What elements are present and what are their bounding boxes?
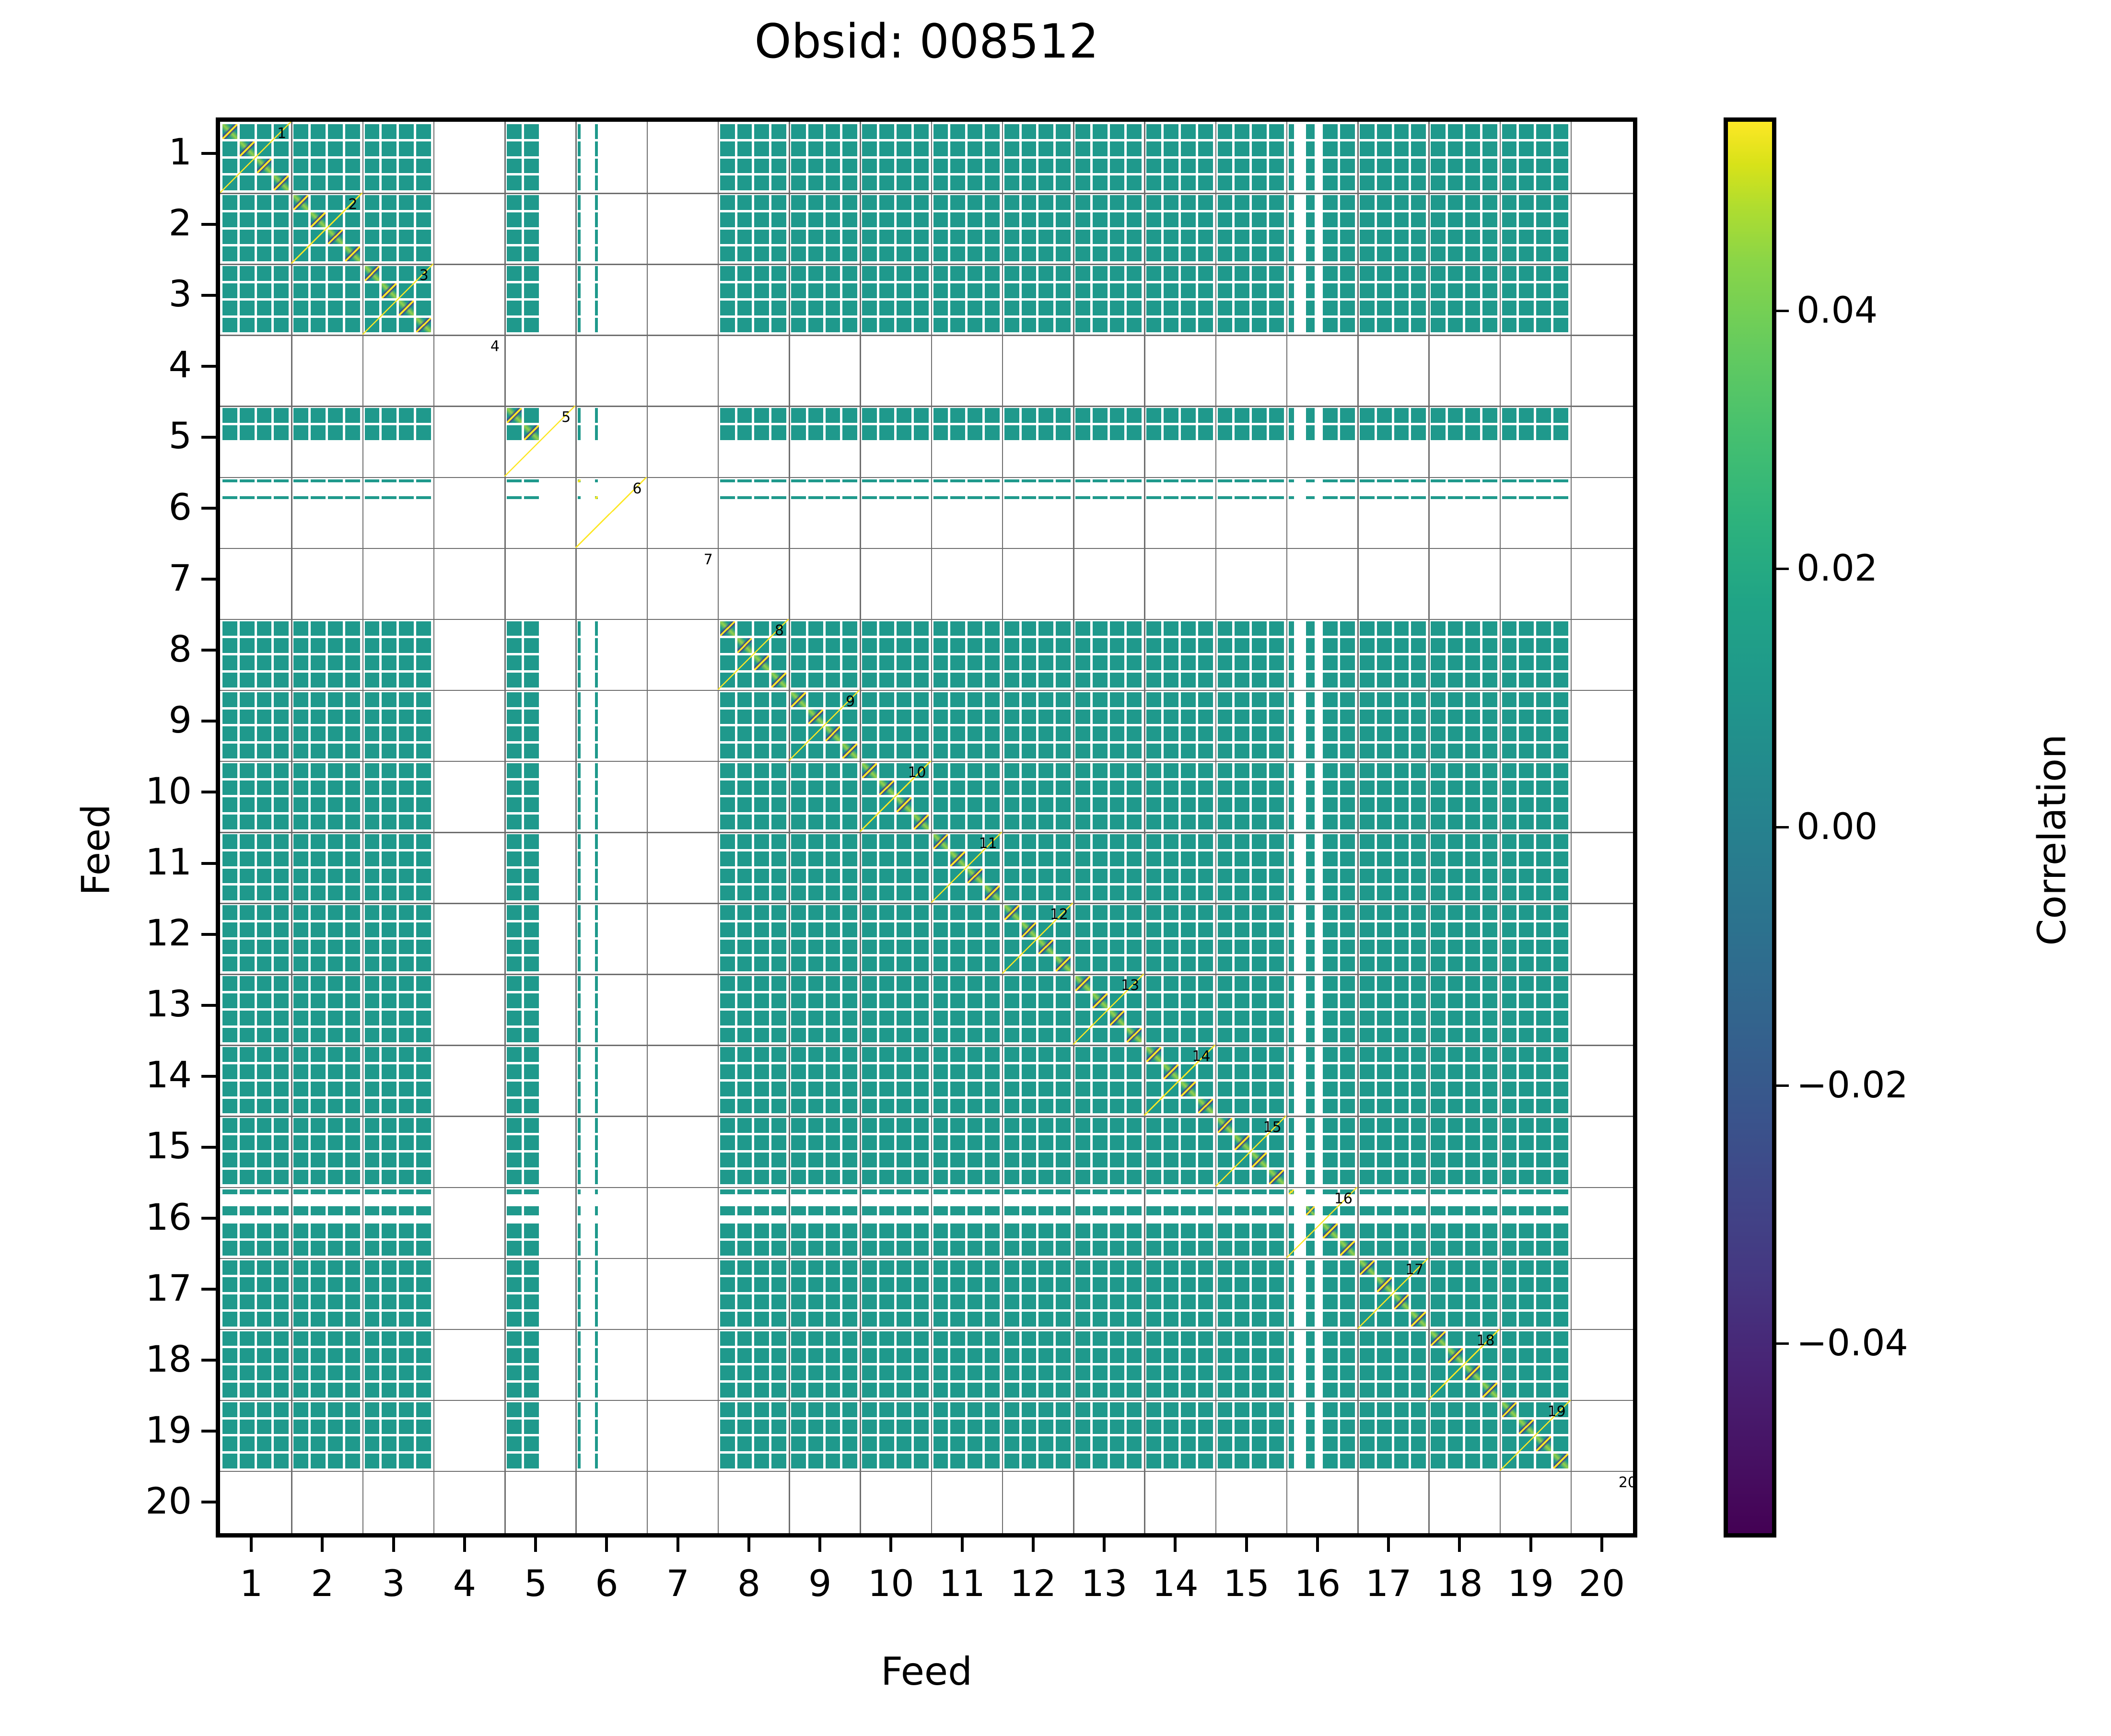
matrix-cell[interactable] [647,122,718,193]
matrix-cell[interactable]: 3 [362,264,433,335]
matrix-cell[interactable] [1428,690,1499,761]
matrix-cell[interactable] [1500,761,1571,832]
matrix-cell[interactable] [1286,548,1357,619]
matrix-cell[interactable] [1002,619,1073,690]
matrix-cell[interactable] [362,690,433,761]
matrix-cell[interactable] [291,619,362,690]
matrix-cell[interactable] [1357,1329,1428,1400]
matrix-cell[interactable] [1144,1187,1215,1258]
matrix-cell[interactable] [575,1471,646,1533]
matrix-cell[interactable] [433,619,504,690]
matrix-cell[interactable] [647,477,718,548]
matrix-cell[interactable] [1215,690,1286,761]
matrix-cell[interactable] [575,974,646,1045]
matrix-cell[interactable] [1286,690,1357,761]
matrix-cell[interactable] [647,406,718,477]
matrix-cell[interactable] [1571,1187,1633,1258]
matrix-cell[interactable] [1428,1258,1499,1329]
matrix-cell[interactable] [789,548,860,619]
matrix-cell[interactable]: 13 [1073,974,1144,1045]
matrix-cell[interactable] [1073,193,1144,264]
matrix-cell[interactable] [789,1329,860,1400]
matrix-cell[interactable] [504,193,575,264]
matrix-cell[interactable] [433,1258,504,1329]
matrix-cell[interactable] [860,690,931,761]
matrix-cell[interactable] [931,1471,1002,1533]
matrix-cell[interactable] [789,477,860,548]
heatmap-axes[interactable]: 1234567891011121314151617181920 [216,117,1637,1538]
matrix-cell[interactable] [1215,832,1286,903]
matrix-cell[interactable] [789,264,860,335]
matrix-cell[interactable] [1002,1116,1073,1187]
matrix-cell[interactable]: 1 [220,122,291,193]
matrix-cell[interactable] [1073,1258,1144,1329]
matrix-cell[interactable] [931,1400,1002,1471]
matrix-cell[interactable] [575,548,646,619]
matrix-cell[interactable] [291,1329,362,1400]
matrix-cell[interactable] [1002,122,1073,193]
matrix-cell[interactable] [789,122,860,193]
matrix-cell[interactable] [291,477,362,548]
matrix-cell[interactable] [504,335,575,406]
matrix-cell[interactable] [647,264,718,335]
matrix-cell[interactable] [647,619,718,690]
matrix-cell[interactable] [433,832,504,903]
matrix-cell[interactable] [931,690,1002,761]
matrix-cell[interactable] [931,761,1002,832]
matrix-cell[interactable] [860,1471,931,1533]
matrix-cell[interactable] [1215,406,1286,477]
matrix-cell[interactable] [789,1045,860,1116]
matrix-cell[interactable] [1571,264,1633,335]
matrix-cell[interactable] [362,1258,433,1329]
matrix-cell[interactable] [1215,1400,1286,1471]
matrix-cell[interactable] [362,548,433,619]
matrix-cell[interactable] [1500,548,1571,619]
matrix-cell[interactable] [433,264,504,335]
matrix-cell[interactable] [362,122,433,193]
matrix-cell[interactable] [1500,193,1571,264]
matrix-cell[interactable] [789,1400,860,1471]
matrix-cell[interactable] [718,974,789,1045]
matrix-cell[interactable] [433,974,504,1045]
matrix-cell[interactable] [575,1187,646,1258]
matrix-cell[interactable]: 11 [931,832,1002,903]
matrix-cell[interactable] [1215,1329,1286,1400]
matrix-cell[interactable] [1073,1116,1144,1187]
matrix-cell[interactable] [575,1258,646,1329]
matrix-cell[interactable] [1002,1400,1073,1471]
matrix-cell[interactable]: 2 [291,193,362,264]
matrix-cell[interactable] [1002,832,1073,903]
matrix-cell[interactable] [1144,619,1215,690]
matrix-cell[interactable] [1500,1329,1571,1400]
matrix-cell[interactable] [362,1187,433,1258]
matrix-cell[interactable] [860,832,931,903]
matrix-cell[interactable] [718,761,789,832]
matrix-cell[interactable] [504,903,575,974]
matrix-cell[interactable] [1215,264,1286,335]
matrix-cell[interactable] [362,832,433,903]
matrix-cell[interactable] [504,832,575,903]
matrix-cell[interactable] [291,832,362,903]
matrix-cell[interactable] [1357,761,1428,832]
matrix-cell[interactable] [1215,761,1286,832]
matrix-cell[interactable] [931,1258,1002,1329]
matrix-cell[interactable] [1571,477,1633,548]
matrix-cell[interactable] [220,903,291,974]
matrix-cell[interactable] [1144,335,1215,406]
matrix-cell[interactable] [1215,193,1286,264]
matrix-cell[interactable]: 15 [1215,1116,1286,1187]
matrix-cell[interactable] [931,406,1002,477]
matrix-cell[interactable] [860,193,931,264]
matrix-cell[interactable] [647,903,718,974]
matrix-cell[interactable] [647,335,718,406]
matrix-cell[interactable] [860,903,931,974]
matrix-cell[interactable] [433,406,504,477]
matrix-cell[interactable] [1357,1187,1428,1258]
matrix-cell[interactable] [1571,690,1633,761]
matrix-cell[interactable] [1073,1045,1144,1116]
matrix-cell[interactable] [1500,1471,1571,1533]
matrix-cell[interactable] [575,1400,646,1471]
matrix-cell[interactable] [1215,974,1286,1045]
matrix-cell[interactable] [1215,1187,1286,1258]
matrix-cell[interactable] [291,335,362,406]
matrix-cell[interactable] [718,1400,789,1471]
matrix-cell[interactable] [1215,1471,1286,1533]
matrix-cell[interactable] [220,1045,291,1116]
matrix-cell[interactable] [433,1116,504,1187]
matrix-cell[interactable] [291,1471,362,1533]
matrix-cell[interactable] [504,690,575,761]
matrix-cell[interactable] [1073,832,1144,903]
matrix-cell[interactable] [931,974,1002,1045]
matrix-cell[interactable] [220,548,291,619]
matrix-cell[interactable] [1073,619,1144,690]
matrix-cell[interactable] [362,193,433,264]
matrix-cell[interactable] [433,1329,504,1400]
matrix-cell[interactable] [291,264,362,335]
matrix-cell[interactable] [718,477,789,548]
matrix-cell[interactable] [1571,1116,1633,1187]
matrix-cell[interactable] [1073,264,1144,335]
matrix-cell[interactable] [433,548,504,619]
matrix-cell[interactable] [575,1045,646,1116]
matrix-cell[interactable] [433,690,504,761]
matrix-cell[interactable] [1073,1471,1144,1533]
matrix-cell[interactable] [504,1187,575,1258]
matrix-cell[interactable] [1215,619,1286,690]
matrix-cell[interactable] [291,690,362,761]
matrix-cell[interactable] [291,974,362,1045]
matrix-cell[interactable] [1073,335,1144,406]
matrix-cell[interactable] [220,1329,291,1400]
matrix-cell[interactable] [1144,1400,1215,1471]
matrix-cell[interactable] [718,1187,789,1258]
matrix-cell[interactable] [931,1187,1002,1258]
matrix-cell[interactable] [1500,264,1571,335]
matrix-cell[interactable] [718,335,789,406]
matrix-cell[interactable] [433,1187,504,1258]
matrix-cell[interactable] [1428,619,1499,690]
matrix-cell[interactable] [1144,1258,1215,1329]
matrix-cell[interactable] [220,406,291,477]
matrix-cell[interactable] [1428,1471,1499,1533]
matrix-cell[interactable] [362,974,433,1045]
matrix-cell[interactable] [1286,1258,1357,1329]
matrix-cell[interactable] [1357,264,1428,335]
matrix-cell[interactable] [1144,193,1215,264]
matrix-cell[interactable] [291,1045,362,1116]
matrix-cell[interactable] [1286,761,1357,832]
matrix-cell[interactable] [220,832,291,903]
matrix-cell[interactable] [1571,1045,1633,1116]
matrix-cell[interactable] [575,335,646,406]
matrix-cell[interactable] [504,122,575,193]
matrix-cell[interactable]: 6 [575,477,646,548]
matrix-cell[interactable] [575,1116,646,1187]
matrix-cell[interactable] [1500,406,1571,477]
matrix-cell[interactable] [1428,548,1499,619]
matrix-cell[interactable] [1428,1116,1499,1187]
matrix-cell[interactable] [291,122,362,193]
matrix-cell[interactable] [1357,335,1428,406]
matrix-cell[interactable] [1286,1400,1357,1471]
matrix-cell[interactable] [1357,974,1428,1045]
matrix-cell[interactable] [504,1116,575,1187]
matrix-cell[interactable] [1073,1329,1144,1400]
matrix-cell[interactable] [647,761,718,832]
matrix-cell[interactable] [1500,974,1571,1045]
matrix-cell[interactable] [1571,193,1633,264]
matrix-cell[interactable] [1215,548,1286,619]
matrix-cell[interactable] [220,1187,291,1258]
matrix-cell[interactable] [433,122,504,193]
matrix-cell[interactable] [362,1045,433,1116]
matrix-cell[interactable] [291,903,362,974]
matrix-cell[interactable] [1002,1329,1073,1400]
matrix-cell[interactable] [1500,690,1571,761]
matrix-cell[interactable] [647,832,718,903]
matrix-cell[interactable]: 10 [860,761,931,832]
matrix-cell[interactable] [575,761,646,832]
matrix-cell[interactable] [220,974,291,1045]
matrix-cell[interactable] [1571,761,1633,832]
matrix-cell[interactable] [504,619,575,690]
matrix-cell[interactable] [789,193,860,264]
matrix-cell[interactable] [1144,1329,1215,1400]
matrix-cell[interactable] [1357,406,1428,477]
matrix-cell[interactable] [1571,1400,1633,1471]
matrix-cell[interactable]: 4 [433,335,504,406]
matrix-cell[interactable] [1571,122,1633,193]
matrix-cell[interactable] [291,1187,362,1258]
matrix-cell[interactable]: 7 [647,548,718,619]
colorbar[interactable]: 0.040.020.00−0.02−0.04 [1724,117,1776,1538]
matrix-cell[interactable] [718,1258,789,1329]
matrix-cell[interactable] [1286,1471,1357,1533]
matrix-cell[interactable] [1073,761,1144,832]
matrix-cell[interactable] [220,1471,291,1533]
matrix-cell[interactable] [1002,1045,1073,1116]
matrix-cell[interactable] [1002,264,1073,335]
matrix-cell[interactable] [647,690,718,761]
matrix-cell[interactable] [931,122,1002,193]
matrix-cell[interactable] [1144,832,1215,903]
matrix-cell[interactable] [291,1116,362,1187]
matrix-cell[interactable] [433,903,504,974]
matrix-cell[interactable] [1215,1045,1286,1116]
matrix-cell[interactable] [931,619,1002,690]
matrix-cell[interactable] [291,761,362,832]
matrix-cell[interactable] [647,1471,718,1533]
matrix-cell[interactable] [504,761,575,832]
matrix-cell[interactable] [1428,974,1499,1045]
matrix-cell[interactable] [1002,1187,1073,1258]
matrix-cell[interactable] [718,903,789,974]
matrix-cell[interactable] [1357,477,1428,548]
matrix-cell[interactable] [931,1329,1002,1400]
matrix-cell[interactable]: 19 [1500,1400,1571,1471]
matrix-cell[interactable] [362,903,433,974]
matrix-cell[interactable] [362,1400,433,1471]
matrix-cell[interactable] [1357,1400,1428,1471]
matrix-cell[interactable]: 5 [504,406,575,477]
matrix-cell[interactable] [1286,903,1357,974]
matrix-cell[interactable] [860,335,931,406]
matrix-cell[interactable]: 8 [718,619,789,690]
matrix-cell[interactable] [362,1471,433,1533]
matrix-cell[interactable] [504,264,575,335]
matrix-cell[interactable] [647,1045,718,1116]
matrix-cell[interactable] [860,1116,931,1187]
matrix-cell[interactable] [1428,193,1499,264]
matrix-cell[interactable] [1286,974,1357,1045]
matrix-cell[interactable] [1215,122,1286,193]
matrix-cell[interactable] [1002,406,1073,477]
matrix-cell[interactable] [1144,122,1215,193]
matrix-cell[interactable] [1286,1329,1357,1400]
matrix-cell[interactable] [1286,1045,1357,1116]
matrix-cell[interactable] [504,974,575,1045]
matrix-cell[interactable] [1571,903,1633,974]
matrix-cell[interactable] [1357,1045,1428,1116]
matrix-cell[interactable] [789,619,860,690]
matrix-cell[interactable] [1286,335,1357,406]
matrix-cell[interactable] [789,1258,860,1329]
matrix-cell[interactable] [1571,974,1633,1045]
matrix-cell[interactable] [504,1400,575,1471]
matrix-cell[interactable] [362,1116,433,1187]
matrix-cell[interactable] [1286,832,1357,903]
matrix-cell[interactable] [1286,264,1357,335]
matrix-cell[interactable] [220,1400,291,1471]
matrix-cell[interactable] [291,548,362,619]
matrix-cell[interactable] [1571,1329,1633,1400]
matrix-cell[interactable] [575,690,646,761]
matrix-cell[interactable] [789,761,860,832]
matrix-cell[interactable] [860,548,931,619]
matrix-cell[interactable] [575,193,646,264]
matrix-cell[interactable] [1428,832,1499,903]
matrix-cell[interactable] [1571,548,1633,619]
matrix-cell[interactable] [1357,903,1428,974]
matrix-cell[interactable] [860,619,931,690]
matrix-cell[interactable] [1073,477,1144,548]
matrix-cell[interactable] [789,903,860,974]
matrix-cell[interactable]: 17 [1357,1258,1428,1329]
matrix-cell[interactable] [1428,1045,1499,1116]
matrix-cell[interactable]: 9 [789,690,860,761]
matrix-cell[interactable] [504,548,575,619]
matrix-cell[interactable] [860,264,931,335]
matrix-cell[interactable] [1286,122,1357,193]
matrix-cell[interactable] [860,122,931,193]
matrix-cell[interactable] [575,1329,646,1400]
matrix-cell[interactable] [575,122,646,193]
matrix-cell[interactable] [1500,1187,1571,1258]
matrix-cell[interactable] [1215,477,1286,548]
correlation-matrix[interactable]: 1234567891011121314151617181920 [220,122,1633,1533]
matrix-cell[interactable] [647,974,718,1045]
matrix-cell[interactable] [433,1471,504,1533]
matrix-cell[interactable] [931,193,1002,264]
matrix-cell[interactable] [1571,335,1633,406]
matrix-cell[interactable] [1357,122,1428,193]
matrix-cell[interactable] [1002,548,1073,619]
matrix-cell[interactable] [1286,477,1357,548]
matrix-cell[interactable] [220,761,291,832]
matrix-cell[interactable]: 18 [1428,1329,1499,1400]
matrix-cell[interactable] [860,974,931,1045]
matrix-cell[interactable] [1002,761,1073,832]
matrix-cell[interactable] [718,193,789,264]
matrix-cell[interactable] [1428,477,1499,548]
matrix-cell[interactable] [220,1258,291,1329]
matrix-cell[interactable] [1073,122,1144,193]
matrix-cell[interactable] [220,193,291,264]
matrix-cell[interactable] [1571,832,1633,903]
matrix-cell[interactable] [1428,335,1499,406]
matrix-cell[interactable] [1144,903,1215,974]
matrix-cell[interactable] [931,335,1002,406]
matrix-cell[interactable] [1571,1258,1633,1329]
matrix-cell[interactable] [1002,974,1073,1045]
matrix-cell[interactable] [433,761,504,832]
matrix-cell[interactable] [789,335,860,406]
matrix-cell[interactable] [1144,761,1215,832]
matrix-cell[interactable] [1144,264,1215,335]
matrix-cell[interactable] [1428,122,1499,193]
matrix-cell[interactable] [860,1045,931,1116]
matrix-cell[interactable] [504,477,575,548]
matrix-cell[interactable] [789,974,860,1045]
matrix-cell[interactable] [1073,1187,1144,1258]
matrix-cell[interactable] [220,619,291,690]
matrix-cell[interactable] [718,122,789,193]
matrix-cell[interactable] [433,193,504,264]
matrix-cell[interactable] [1002,335,1073,406]
matrix-cell[interactable] [1500,832,1571,903]
matrix-cell[interactable] [931,264,1002,335]
matrix-cell[interactable] [291,1258,362,1329]
matrix-cell[interactable] [647,193,718,264]
matrix-cell[interactable] [1357,193,1428,264]
matrix-cell[interactable] [718,1471,789,1533]
matrix-cell[interactable] [1215,1258,1286,1329]
